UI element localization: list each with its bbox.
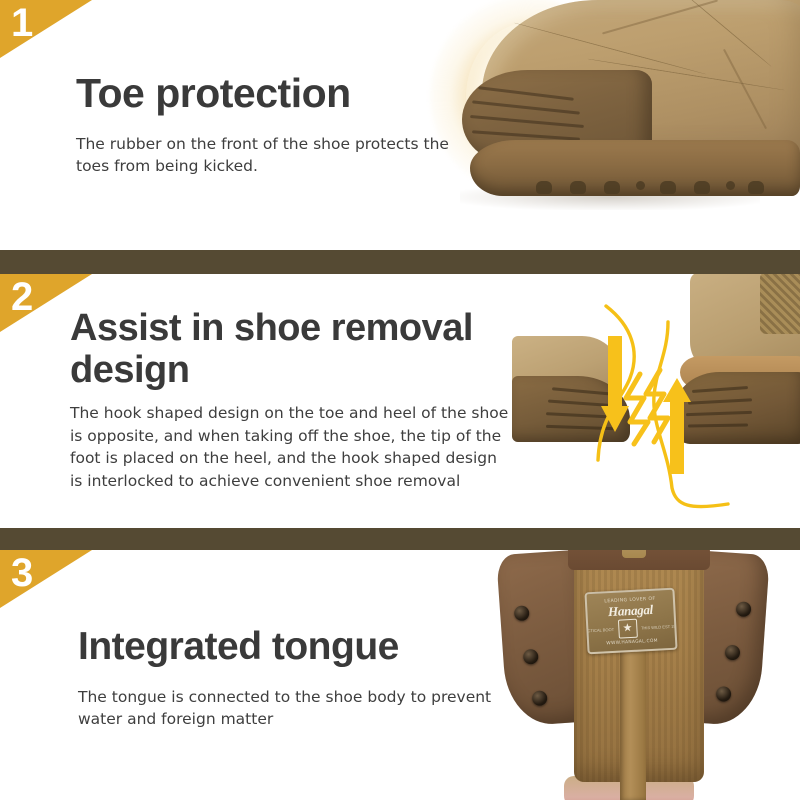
shoe-removal-photo bbox=[490, 274, 800, 528]
brand-label: LEADING LOVER OF Hanagal TACTICAL BOOT ★… bbox=[584, 588, 677, 655]
feature-heading-1: Toe protection bbox=[76, 70, 476, 116]
interlock-arrow-diagram bbox=[490, 274, 800, 528]
feature-body-2: The hook shaped design on the toe and he… bbox=[70, 402, 510, 492]
feature-section-2: 2 Assist in shoe removal design The hook… bbox=[0, 274, 800, 528]
curve-guide-right bbox=[654, 322, 728, 507]
star-emblem-icon: ★ bbox=[618, 618, 638, 638]
lace-eyelet bbox=[532, 690, 548, 706]
feature-heading-2: Assist in shoe removal design bbox=[70, 307, 510, 391]
section-number-2: 2 bbox=[11, 275, 32, 319]
outsole-lug bbox=[536, 181, 552, 194]
outsole-lug bbox=[660, 181, 676, 194]
boot-outsole bbox=[470, 140, 800, 196]
down-arrow bbox=[601, 336, 629, 432]
tongue-photo: LEADING LOVER OF Hanagal TACTICAL BOOT ★… bbox=[468, 550, 800, 800]
outsole-lug bbox=[748, 181, 764, 194]
brand-label-left-text: TACTICAL BOOT bbox=[584, 626, 614, 633]
section-number-badge-3: 3 bbox=[0, 550, 92, 608]
brand-label-name: Hanagal bbox=[608, 601, 654, 618]
feature-body-3: The tongue is connected to the shoe body… bbox=[78, 686, 498, 730]
lace-eyelet bbox=[514, 605, 530, 621]
feature-heading-3: Integrated tongue bbox=[78, 625, 498, 669]
brand-label-right-text: THIS WILD EST 1971 bbox=[641, 623, 678, 630]
outsole-lug bbox=[570, 181, 586, 194]
feature-text-3: Integrated tongue The tongue is connecte… bbox=[78, 625, 498, 730]
feature-section-1: 1 Toe protection The rubber on the front… bbox=[0, 0, 800, 250]
section-number-badge-1: 1 bbox=[0, 0, 92, 58]
outsole-lug bbox=[726, 181, 735, 190]
zigzag-interlock-left bbox=[626, 374, 648, 444]
section-divider-1 bbox=[0, 250, 800, 274]
feature-text-2: Assist in shoe removal design The hook s… bbox=[70, 307, 510, 492]
lace-eyelet bbox=[716, 686, 732, 702]
section-number-1: 1 bbox=[11, 1, 32, 45]
brand-label-url: WWW.HANAGAL.COM bbox=[606, 638, 658, 646]
infographic-page: 1 Toe protection The rubber on the front… bbox=[0, 0, 800, 800]
lace-eyelet bbox=[736, 601, 752, 617]
outsole-lug bbox=[694, 181, 710, 194]
feature-section-3: LEADING LOVER OF Hanagal TACTICAL BOOT ★… bbox=[0, 550, 800, 800]
tongue-center-strap bbox=[620, 630, 646, 800]
section-divider-2 bbox=[0, 528, 800, 550]
lace-eyelet bbox=[523, 649, 539, 665]
outsole-lug bbox=[604, 181, 620, 194]
outsole-lug bbox=[636, 181, 645, 190]
feature-body-1: The rubber on the front of the shoe prot… bbox=[76, 133, 476, 177]
tongue-pull-tab bbox=[622, 550, 646, 558]
feature-text-1: Toe protection The rubber on the front o… bbox=[76, 70, 476, 177]
section-number-3: 3 bbox=[11, 551, 32, 595]
lace-eyelet bbox=[725, 645, 741, 661]
brand-label-middle: TACTICAL BOOT ★ THIS WILD EST 1971 bbox=[584, 616, 677, 640]
